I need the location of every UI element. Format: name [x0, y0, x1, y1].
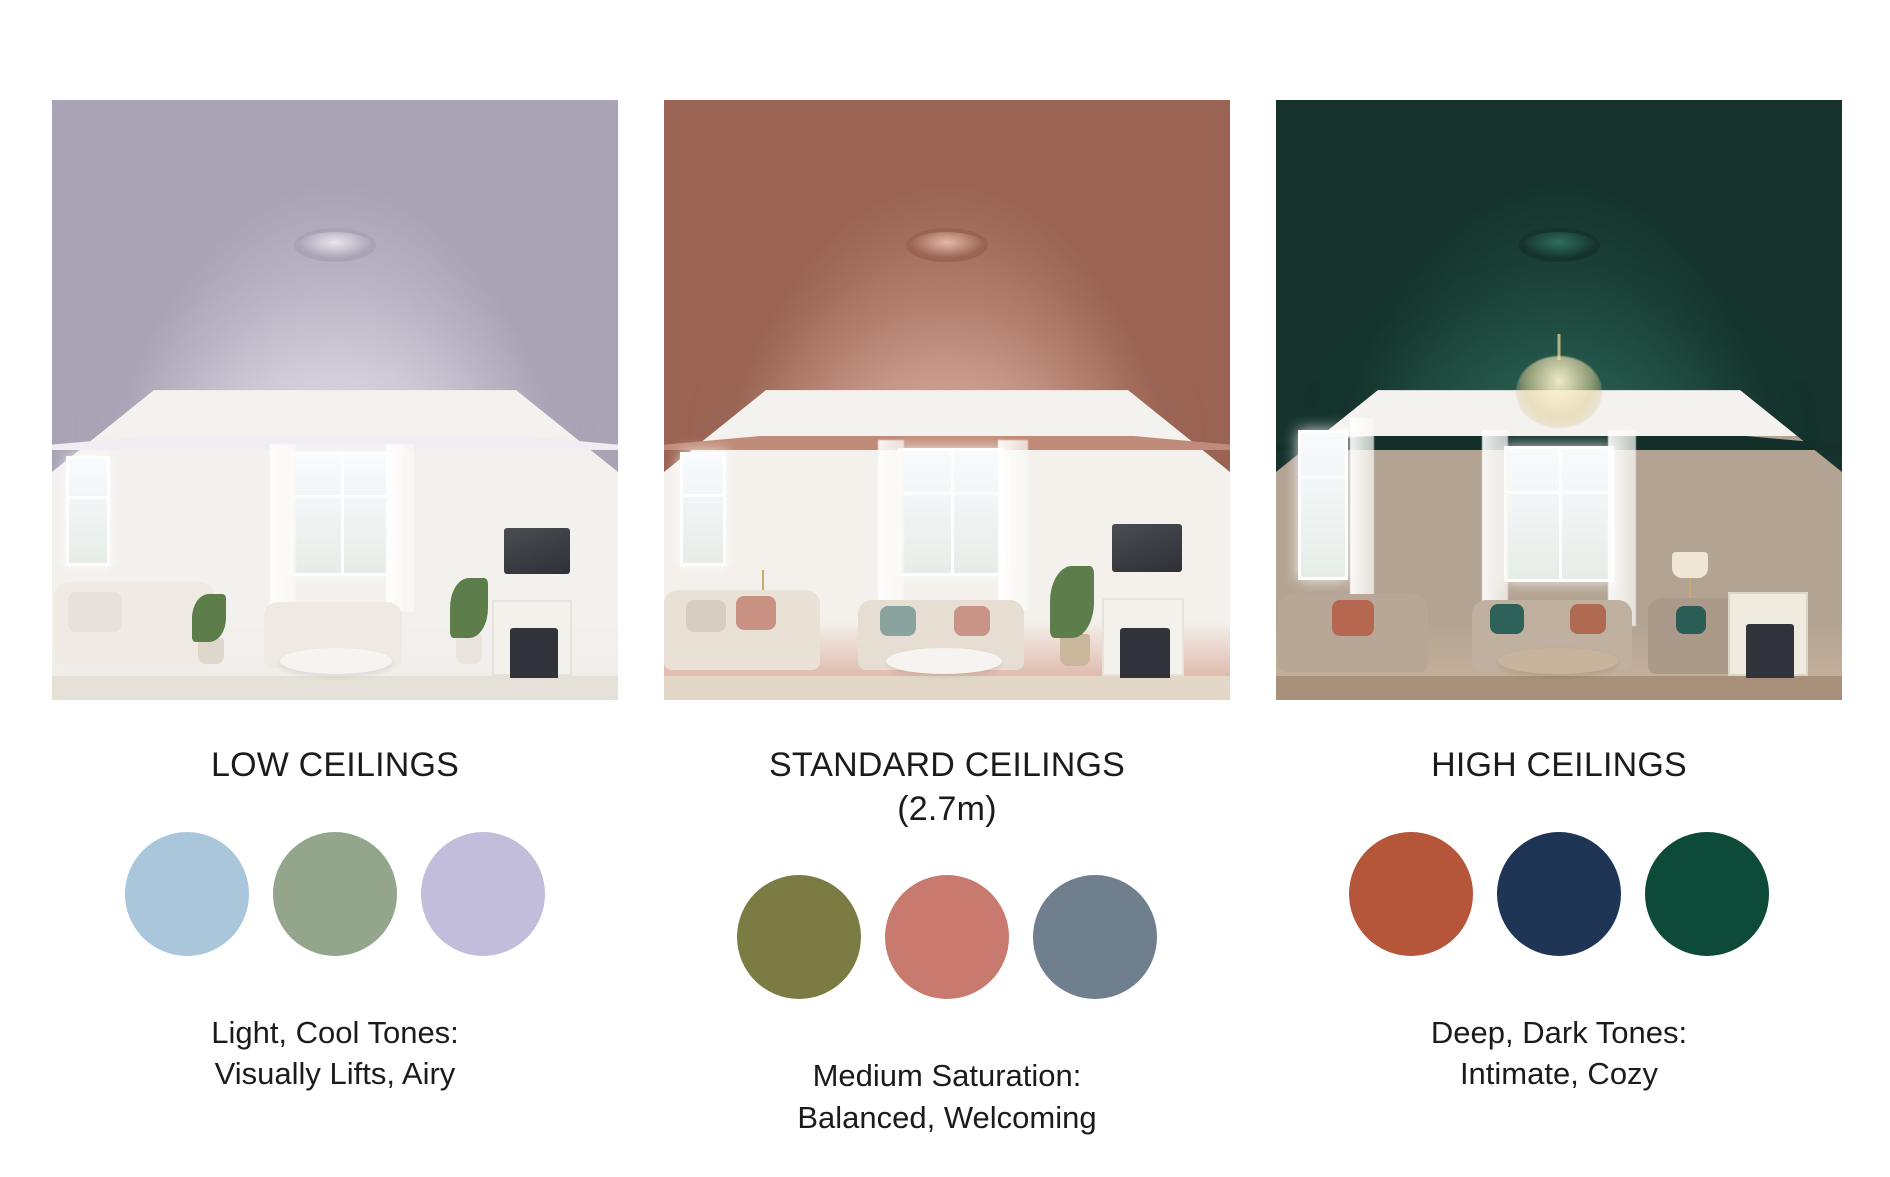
swatch-terracotta[interactable] — [1349, 832, 1473, 956]
curtain-right — [386, 444, 414, 612]
swatch-slate-blue-gray[interactable] — [1033, 875, 1157, 999]
floor — [1276, 676, 1842, 700]
window-center — [290, 452, 392, 576]
floor — [664, 676, 1230, 700]
cushion-teal-center — [1490, 604, 1524, 634]
photo-standard-ceilings — [664, 100, 1230, 700]
column-caption: Deep, Dark Tones: Intimate, Cozy — [1431, 1012, 1687, 1095]
window-center — [1504, 446, 1614, 582]
firebox — [1746, 624, 1794, 678]
cushion-terracotta-left — [736, 596, 776, 630]
columns-container: LOW CEILINGS Light, Cool Tones: Visually… — [52, 100, 1838, 1138]
curtain-left — [270, 444, 296, 612]
ceiling-color-guide-board: LOW CEILINGS Light, Cool Tones: Visually… — [0, 0, 1890, 1177]
swatch-dusty-rose[interactable] — [885, 875, 1009, 999]
coffee-table — [280, 648, 392, 674]
curtain-center-left — [1482, 430, 1508, 626]
firebox — [1120, 628, 1170, 678]
curtain-center-right — [1608, 430, 1636, 626]
crystal-chandelier — [1516, 356, 1602, 428]
photo-low-ceilings — [52, 100, 618, 700]
window-left — [66, 456, 110, 566]
swatch-lavender[interactable] — [421, 832, 545, 956]
ceiling-rose-medallion — [298, 232, 372, 258]
window-center — [898, 448, 1004, 576]
firebox — [510, 628, 558, 678]
plant-leaf-b — [450, 578, 488, 638]
cushion-terracotta-left — [1332, 600, 1374, 636]
ceiling-rose-medallion — [910, 232, 984, 258]
column-title: LOW CEILINGS — [211, 744, 459, 788]
swatch-deep-forest-green[interactable] — [1645, 832, 1769, 956]
window-left — [680, 452, 726, 566]
lamp-shade — [746, 546, 780, 570]
ceiling-surface — [664, 100, 1230, 472]
plant-leaf-a — [192, 594, 226, 642]
window-left — [1298, 430, 1348, 580]
ceiling-rose-medallion — [1522, 232, 1596, 258]
column-caption: Light, Cool Tones: Visually Lifts, Airy — [211, 1012, 459, 1095]
plant-pot-right — [1060, 634, 1090, 666]
plant-leaf-b — [1050, 566, 1094, 638]
cushion-gray-left — [686, 600, 726, 632]
lamp-shade — [1672, 552, 1708, 578]
television — [1112, 524, 1182, 572]
chandelier-body — [1516, 356, 1602, 428]
fireplace — [1728, 592, 1808, 676]
curtain-right — [998, 440, 1028, 610]
fireplace — [1102, 598, 1184, 676]
cushion-left — [68, 592, 122, 632]
coffee-table — [886, 648, 1002, 674]
column-title: HIGH CEILINGS — [1431, 744, 1687, 788]
swatch-row — [125, 832, 545, 956]
swatch-navy[interactable] — [1497, 832, 1621, 956]
cushion-teal-right — [1676, 606, 1706, 634]
swatch-row — [1349, 832, 1769, 956]
cornice-moulding — [52, 436, 618, 450]
cushion-rose-center — [1570, 604, 1606, 634]
swatch-olive-green[interactable] — [737, 875, 861, 999]
swatch-sage-green[interactable] — [273, 832, 397, 956]
photo-high-ceilings — [1276, 100, 1842, 700]
television — [504, 528, 570, 574]
plant-pot-right — [456, 634, 482, 664]
ceiling-surface — [52, 100, 618, 472]
swatch-row — [737, 875, 1157, 999]
cushion-teal-center — [880, 606, 916, 636]
column-title: STANDARD CEILINGS (2.7m) — [769, 744, 1125, 831]
coffee-table — [1498, 648, 1618, 674]
column-standard-ceilings: STANDARD CEILINGS (2.7m) Medium Saturati… — [664, 100, 1230, 1138]
floor — [52, 676, 618, 700]
column-high-ceilings: HIGH CEILINGS Deep, Dark Tones: Intimate… — [1276, 100, 1842, 1138]
column-low-ceilings: LOW CEILINGS Light, Cool Tones: Visually… — [52, 100, 618, 1138]
fireplace — [492, 600, 572, 676]
cushion-rose-center — [954, 606, 990, 636]
column-caption: Medium Saturation: Balanced, Welcoming — [797, 1055, 1096, 1138]
curtain-left — [878, 440, 904, 610]
swatch-light-blue[interactable] — [125, 832, 249, 956]
